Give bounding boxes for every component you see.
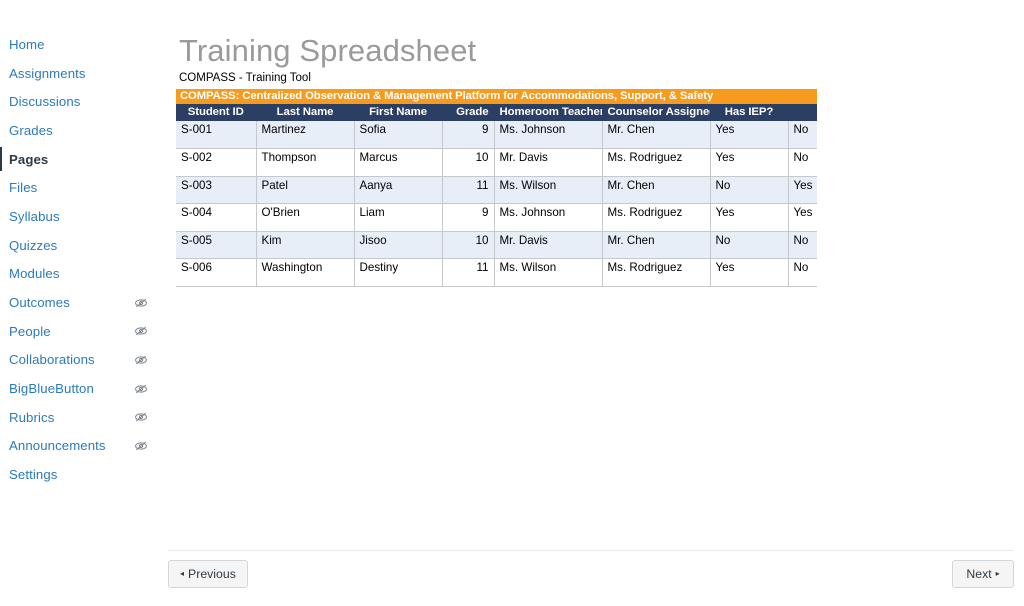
sidebar-item-assignments[interactable]: Assignments: [0, 59, 158, 88]
table-cell[interactable]: S-002: [176, 149, 256, 177]
table-cell[interactable]: Ms. Wilson: [494, 176, 602, 204]
table-cell[interactable]: 9: [442, 121, 494, 149]
sidebar-item-label: Quizzes: [9, 238, 148, 253]
table-cell[interactable]: Ms. Johnson: [494, 121, 602, 149]
table-cell[interactable]: Patel: [256, 176, 354, 204]
sidebar-item-label: People: [9, 324, 128, 339]
table-cell[interactable]: Ms. Wilson: [494, 259, 602, 287]
table-cell[interactable]: S-005: [176, 231, 256, 259]
previous-page-button[interactable]: ◂ Previous: [168, 560, 248, 588]
sidebar-item-syllabus[interactable]: Syllabus: [0, 202, 158, 231]
table-cell[interactable]: Sofia: [354, 121, 442, 149]
table-cell[interactable]: Destiny: [354, 259, 442, 287]
table-cell[interactable]: Ms. Rodriguez: [602, 259, 710, 287]
sidebar-item-announcements[interactable]: Announcements: [0, 432, 158, 461]
table-cell[interactable]: S-001: [176, 121, 256, 149]
table-cell[interactable]: Martinez: [256, 121, 354, 149]
next-caret-icon: ▸: [996, 570, 1000, 578]
sidebar-item-label: Settings: [9, 467, 148, 482]
table-cell[interactable]: No: [710, 231, 788, 259]
table-cell[interactable]: Yes: [788, 176, 817, 204]
table-cell[interactable]: S-006: [176, 259, 256, 287]
table-cell[interactable]: Mr. Chen: [602, 176, 710, 204]
table-cell[interactable]: Marcus: [354, 149, 442, 177]
table-cell[interactable]: Washington: [256, 259, 354, 287]
sidebar-item-label: Announcements: [9, 438, 128, 453]
table-row[interactable]: S-001MartinezSofia9Ms. JohnsonMr. ChenYe…: [176, 121, 817, 149]
table-cell[interactable]: Mr. Chen: [602, 121, 710, 149]
eye-off-icon: [134, 296, 148, 310]
column-header-first-name[interactable]: First Name: [354, 104, 442, 121]
table-cell[interactable]: O'Brien: [256, 204, 354, 232]
sidebar-item-label: Pages: [9, 152, 148, 167]
table-cell[interactable]: Yes: [788, 204, 817, 232]
sidebar-item-label: Grades: [9, 123, 148, 138]
sidebar-item-grades[interactable]: Grades: [0, 116, 158, 145]
table-cell[interactable]: Yes: [710, 121, 788, 149]
table-cell[interactable]: 11: [442, 176, 494, 204]
table-cell[interactable]: 11: [442, 259, 494, 287]
table-cell[interactable]: Yes: [710, 204, 788, 232]
table-cell[interactable]: 10: [442, 149, 494, 177]
eye-off-icon: [134, 410, 148, 424]
table-row[interactable]: S-004O'BrienLiam9Ms. JohnsonMs. Rodrigue…: [176, 204, 817, 232]
sidebar-item-label: Outcomes: [9, 295, 128, 310]
sidebar-item-bigbluebutton[interactable]: BigBlueButton: [0, 374, 158, 403]
page-title: Training Spreadsheet: [179, 33, 476, 69]
eye-off-icon: [134, 353, 148, 367]
sidebar-item-label: Rubrics: [9, 410, 128, 425]
spreadsheet-banner-row: COMPASS: Centralized Observation & Manag…: [176, 89, 817, 104]
table-row[interactable]: S-002ThompsonMarcus10Mr. DavisMs. Rodrig…: [176, 149, 817, 177]
course-navigation-sidebar: HomeAssignmentsDiscussionsGradesPagesFil…: [0, 0, 158, 606]
column-header-last-name[interactable]: Last Name: [256, 104, 354, 121]
column-header-grade[interactable]: Grade: [442, 104, 494, 121]
table-cell[interactable]: S-003: [176, 176, 256, 204]
sidebar-item-pages[interactable]: Pages: [0, 145, 158, 174]
table-cell[interactable]: Jisoo: [354, 231, 442, 259]
footer-divider: [168, 550, 1014, 551]
previous-page-label: Previous: [188, 567, 236, 581]
table-row[interactable]: S-006WashingtonDestiny11Ms. WilsonMs. Ro…: [176, 259, 817, 287]
spreadsheet-banner-text: COMPASS: Centralized Observation & Manag…: [176, 89, 817, 104]
sidebar-item-quizzes[interactable]: Quizzes: [0, 231, 158, 260]
sidebar-item-collaborations[interactable]: Collaborations: [0, 346, 158, 375]
table-cell[interactable]: Ms. Johnson: [494, 204, 602, 232]
page-root: HomeAssignmentsDiscussionsGradesPagesFil…: [0, 0, 1024, 606]
table-cell[interactable]: No: [710, 176, 788, 204]
table-cell[interactable]: Yes: [710, 259, 788, 287]
sidebar-item-settings[interactable]: Settings: [0, 460, 158, 489]
sidebar-item-label: Discussions: [9, 94, 148, 109]
table-cell[interactable]: Aanya: [354, 176, 442, 204]
sidebar-item-label: Assignments: [9, 66, 148, 81]
sidebar-item-home[interactable]: Home: [0, 30, 158, 59]
spreadsheet-document-name: COMPASS - Training Tool: [176, 68, 817, 89]
table-cell[interactable]: 10: [442, 231, 494, 259]
sidebar-item-files[interactable]: Files: [0, 173, 158, 202]
sidebar-item-label: Syllabus: [9, 209, 148, 224]
sidebar-item-discussions[interactable]: Discussions: [0, 87, 158, 116]
table-cell[interactable]: Ms. Rodriguez: [602, 149, 710, 177]
column-header-counselor-assigned[interactable]: Counselor Assigned: [602, 104, 710, 121]
student-master-list-table: COMPASS: Centralized Observation & Manag…: [176, 89, 817, 287]
table-cell[interactable]: No: [788, 259, 817, 287]
sidebar-item-outcomes[interactable]: Outcomes: [0, 288, 158, 317]
column-header-has[interactable]: Has: [788, 104, 817, 121]
table-cell[interactable]: Mr. Davis: [494, 231, 602, 259]
eye-off-icon: [134, 324, 148, 338]
column-header-student-id[interactable]: Student ID: [176, 104, 256, 121]
sidebar-item-label: Files: [9, 180, 148, 195]
sidebar-item-rubrics[interactable]: Rubrics: [0, 403, 158, 432]
sidebar-item-label: BigBlueButton: [9, 381, 128, 396]
column-header-has-iep-[interactable]: Has IEP?: [710, 104, 788, 121]
spreadsheet-grid-viewport[interactable]: COMPASS: Centralized Observation & Manag…: [176, 89, 817, 486]
main-content: Training Spreadsheet COMPASS - Training …: [158, 0, 1024, 606]
sidebar-item-label: Home: [9, 37, 148, 52]
eye-off-icon: [134, 382, 148, 396]
sidebar-item-label: Modules: [9, 266, 148, 281]
sidebar-item-modules[interactable]: Modules: [0, 260, 158, 289]
spreadsheet-header-row: Student IDLast NameFirst NameGradeHomero…: [176, 104, 817, 121]
table-row[interactable]: S-005KimJisoo10Mr. DavisMr. ChenNoNo: [176, 231, 817, 259]
table-cell[interactable]: Mr. Chen: [602, 231, 710, 259]
table-cell[interactable]: No: [788, 149, 817, 177]
table-cell[interactable]: Yes: [710, 149, 788, 177]
table-cell[interactable]: 9: [442, 204, 494, 232]
table-cell[interactable]: Mr. Davis: [494, 149, 602, 177]
table-cell[interactable]: No: [788, 121, 817, 149]
next-page-button[interactable]: Next ▸: [952, 560, 1014, 588]
table-cell[interactable]: Ms. Rodriguez: [602, 204, 710, 232]
eye-off-icon: [134, 439, 148, 453]
sidebar-item-people[interactable]: People: [0, 317, 158, 346]
table-row[interactable]: S-003PatelAanya11Ms. WilsonMr. ChenNoYes: [176, 176, 817, 204]
column-header-homeroom-teacher[interactable]: Homeroom Teacher: [494, 104, 602, 121]
table-cell[interactable]: Liam: [354, 204, 442, 232]
table-cell[interactable]: No: [788, 231, 817, 259]
embedded-spreadsheet: COMPASS - Training Tool COMPASS: Central…: [176, 68, 817, 540]
table-cell[interactable]: Kim: [256, 231, 354, 259]
table-cell[interactable]: Thompson: [256, 149, 354, 177]
next-page-label: Next: [966, 567, 991, 581]
previous-caret-icon: ◂: [180, 570, 184, 578]
sidebar-item-label: Collaborations: [9, 352, 128, 367]
table-cell[interactable]: S-004: [176, 204, 256, 232]
